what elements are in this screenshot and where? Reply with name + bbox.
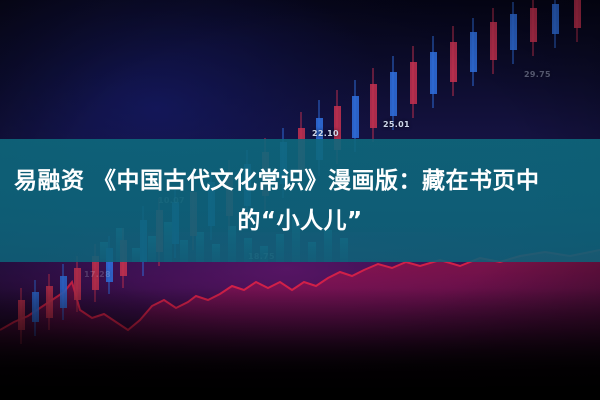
candle-body xyxy=(18,300,25,330)
candle-body xyxy=(74,268,81,300)
candle-body xyxy=(390,72,397,116)
page-title: 易融资 《中国古代文化常识》漫画版：藏在书页中 的“小人儿” xyxy=(0,139,600,262)
price-annotation-label: 25.01 xyxy=(383,120,410,129)
candle-body xyxy=(552,4,559,34)
candle-body xyxy=(32,292,39,322)
price-annotation-label: 22.10 xyxy=(312,129,339,138)
candle-body xyxy=(450,42,457,82)
price-annotation-label: 29.75 xyxy=(524,70,551,79)
screenshot-stage: 22.1025.0129.7510.0718.7517.28 易融资 《中国古代… xyxy=(0,0,600,400)
candle-body xyxy=(510,14,517,50)
candle-body xyxy=(60,276,67,308)
candle-body xyxy=(370,84,377,128)
candle-body xyxy=(46,286,53,318)
price-annotation-label: 17.28 xyxy=(84,270,111,279)
candle-body xyxy=(470,32,477,72)
candle-body xyxy=(490,22,497,60)
candle-body xyxy=(410,62,417,104)
candle-body xyxy=(430,52,437,94)
candle-body xyxy=(574,0,581,28)
page-title-line-2: 的“小人儿” xyxy=(14,201,586,241)
page-title-line-1: 易融资 《中国古代文化常识》漫画版：藏在书页中 xyxy=(14,161,586,201)
candle-body xyxy=(352,96,359,138)
candle-body xyxy=(530,8,537,42)
